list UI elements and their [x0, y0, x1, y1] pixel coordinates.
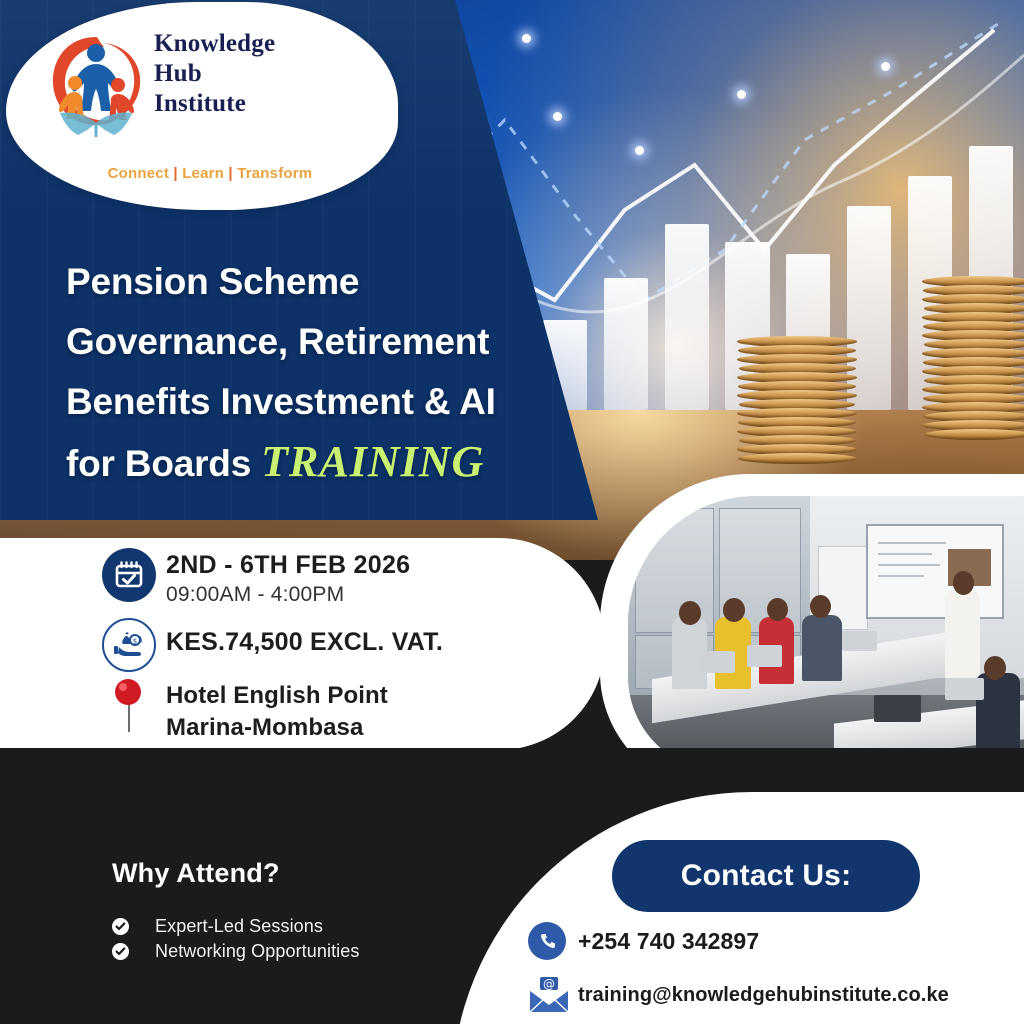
tagline-sep-2: | [224, 165, 237, 182]
contact-details: +254 740 342897 @ training@knowledgehubi… [528, 922, 1024, 1024]
headline-line-4: for Boards TRAINING [66, 432, 586, 494]
laptop [945, 678, 985, 700]
check-circle-icon [112, 943, 129, 960]
venue-line-2: Marina-Mombasa [166, 712, 388, 744]
list-item: Networking Opportunities [112, 941, 360, 962]
brand-name-line1: Knowledge [154, 29, 275, 59]
event-details-list: 2ND - 6TH FEB 2026 09:00AM - 4:00PM $ [92, 548, 612, 744]
brand-tagline: Connect | Learn | Transform [50, 165, 370, 182]
brand-name-line3: Institute [154, 89, 275, 119]
why-attend-item-label: Networking Opportunities [155, 941, 360, 962]
tagline-sep-1: | [169, 165, 182, 182]
svg-text:@: @ [543, 977, 555, 991]
contact-us-label: Contact Us: [681, 859, 852, 893]
tagline-connect: Connect [108, 165, 169, 182]
training-room-photo-frame [600, 474, 1024, 792]
brand-logo-capsule[interactable]: Knowledge Hub Institute Connect | Learn … [6, 2, 398, 210]
event-price: KES.74,500 EXCL. VAT. [166, 628, 443, 657]
money-in-hand-icon: $ [92, 618, 166, 672]
headline-line-2: Governance, Retirement [66, 312, 586, 372]
email-address: training@knowledgehubinstitute.co.ke [578, 984, 949, 1007]
contact-us-badge[interactable]: Contact Us: [612, 840, 920, 912]
contact-row-phone[interactable]: +254 740 342897 [528, 922, 1024, 960]
coin-stack [737, 338, 857, 464]
map-pin-icon [92, 678, 166, 734]
detail-row-venue: Hotel English Point Marina-Mombasa [92, 678, 612, 744]
coin-stack [922, 278, 1024, 440]
tagline-transform: Transform [237, 165, 312, 182]
headline-line-1: Pension Scheme [66, 252, 586, 312]
calendar-check-icon [92, 548, 166, 602]
check-circle-icon [112, 918, 129, 935]
list-item: Expert-Led Sessions [112, 916, 360, 937]
headline-line-4-text: for Boards [66, 443, 261, 484]
venue-line-1: Hotel English Point [166, 680, 388, 712]
people-book-logo-icon [44, 31, 148, 143]
event-time: 09:00AM - 4:00PM [166, 580, 410, 610]
laptop [874, 695, 922, 723]
svg-text:$: $ [133, 638, 137, 646]
brand-wordmark: Knowledge Hub Institute [154, 29, 275, 119]
tagline-learn: Learn [182, 165, 224, 182]
projector-screen [866, 524, 1005, 619]
attendee-head [723, 598, 745, 622]
attendee [802, 615, 842, 681]
laptop [699, 651, 735, 673]
phone-number: +254 740 342897 [578, 928, 759, 955]
poster-canvas: Knowledge Hub Institute Connect | Learn … [0, 0, 1024, 1024]
attendee-head [767, 598, 788, 621]
phone-icon [528, 922, 578, 960]
contact-row-email[interactable]: @ training@knowledgehubinstitute.co.ke [528, 976, 1024, 1014]
headline-emphasis-training: TRAINING [261, 437, 484, 486]
page-title: Pension Scheme Governance, Retirement Be… [66, 252, 586, 494]
glow-dot [737, 90, 746, 99]
detail-row-price: $ KES.74,500 EXCL. VAT. [92, 618, 612, 672]
event-date: 2ND - 6TH FEB 2026 [166, 550, 410, 580]
laptop [842, 631, 878, 650]
presenter [945, 590, 981, 678]
laptop [747, 645, 783, 667]
email-envelope-icon: @ [528, 976, 578, 1014]
headline-line-3: Benefits Investment & AI [66, 372, 586, 432]
presenter-head [953, 571, 974, 595]
why-attend-list: Expert-Led Sessions Networking Opportuni… [112, 916, 360, 966]
training-room-presentation-photo [628, 496, 1024, 772]
why-attend-item-label: Expert-Led Sessions [155, 916, 323, 937]
why-attend-title: Why Attend? [112, 858, 280, 889]
brand-name-line2: Hub [154, 59, 275, 89]
glow-dot [522, 34, 531, 43]
detail-row-date: 2ND - 6TH FEB 2026 09:00AM - 4:00PM [92, 548, 612, 610]
glow-dot [881, 62, 890, 71]
